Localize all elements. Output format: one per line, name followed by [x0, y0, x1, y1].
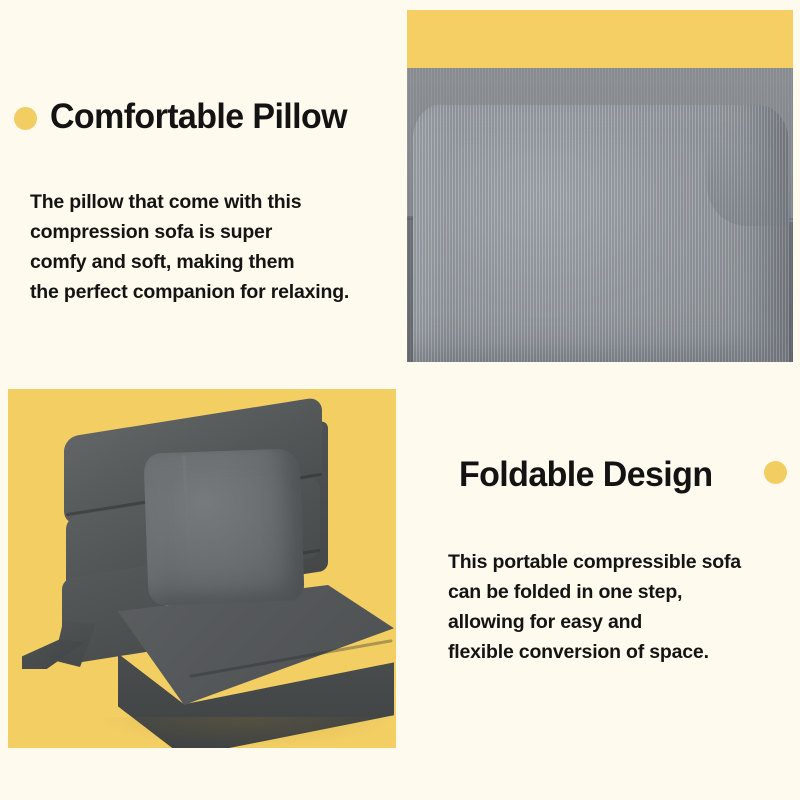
bullet-dot-icon-comfortable-pillow [14, 107, 37, 130]
body-text-comfortable-pillow: The pillow that come with this compressi… [30, 187, 390, 307]
yellow-banner-strip [407, 10, 793, 68]
pillow-closeup-image [407, 10, 793, 362]
heading-comfortable-pillow: Comfortable Pillow [50, 97, 347, 137]
sofa-drop-shadow [100, 717, 392, 747]
body-text-foldable-design: This portable compressible sofa can be f… [448, 547, 796, 667]
infographic-canvas: Comfortable Pillow The pillow that come … [0, 0, 800, 800]
sofa-cushion-pillow [143, 448, 304, 605]
foldable-sofa-image [8, 389, 396, 748]
heading-foldable-design: Foldable Design [459, 455, 712, 495]
bullet-dot-icon-foldable-design [764, 461, 787, 484]
pillow-shape [413, 105, 789, 362]
